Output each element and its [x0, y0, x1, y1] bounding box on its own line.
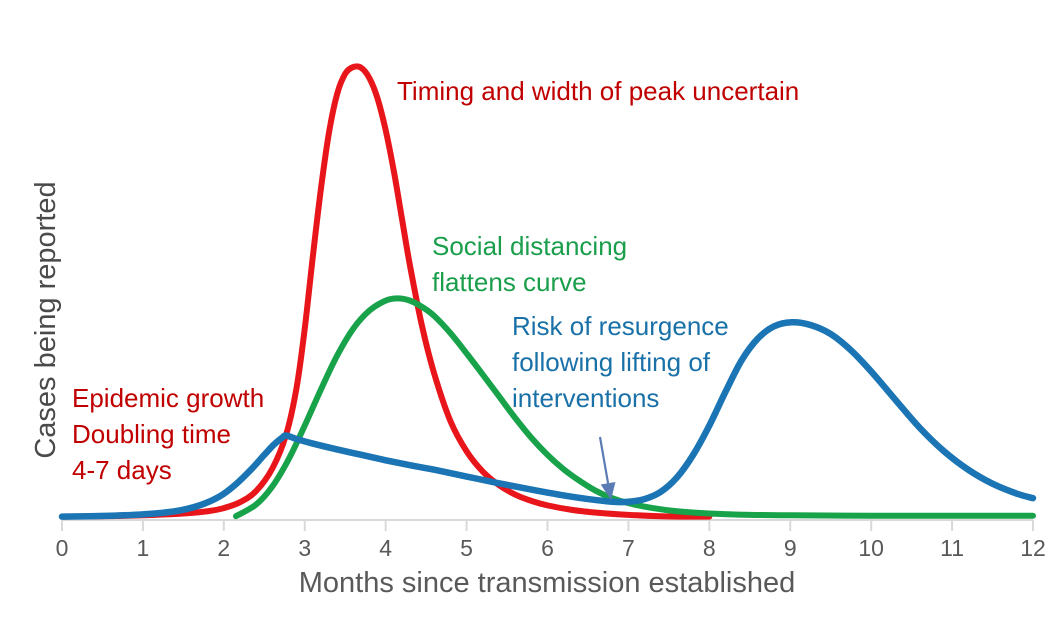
- x-axis-tick-label-5: 5: [460, 535, 473, 561]
- annotation-line: 4-7 days: [72, 455, 172, 485]
- annotation-line: interventions: [512, 383, 659, 413]
- x-axis-tick-label-10: 10: [858, 535, 884, 561]
- annotation-epidemic-growth: Epidemic growthDoubling time4-7 days: [72, 383, 264, 485]
- x-axis-tick-label-8: 8: [703, 535, 716, 561]
- x-axis-tick-label-12: 12: [1020, 535, 1046, 561]
- annotation-line: Doubling time: [72, 419, 231, 449]
- x-axis-tick-label-6: 6: [541, 535, 554, 561]
- x-axis-tick-label-2: 2: [217, 535, 230, 561]
- annotation-social-distancing: Social distancingflattens curve: [432, 231, 627, 297]
- annotation-line: Risk of resurgence: [512, 311, 729, 341]
- annotation-line: flattens curve: [432, 267, 587, 297]
- annotation-line: following lifting of: [512, 347, 711, 377]
- chart-annotations: Timing and width of peak uncertainSocial…: [72, 76, 799, 485]
- x-axis-tick-label-7: 7: [622, 535, 635, 561]
- axis-group: 0123456789101112: [56, 520, 1046, 561]
- x-axis-tick-label-9: 9: [784, 535, 797, 561]
- annotation-line: Timing and width of peak uncertain: [397, 76, 799, 106]
- chart-canvas: 0123456789101112 Months since transmissi…: [0, 0, 1055, 619]
- series-line-unmitigated: [62, 66, 709, 516]
- x-axis-tick-label-3: 3: [298, 535, 311, 561]
- arrow-shaft: [600, 437, 608, 483]
- x-axis-tick-label-1: 1: [137, 535, 150, 561]
- x-axis-title: Months since transmission established: [299, 567, 795, 599]
- epidemic-curves-chart: 0123456789101112 Months since transmissi…: [0, 0, 1055, 619]
- resurgence-pointer-arrow: [600, 437, 615, 500]
- x-axis-tick-label-4: 4: [379, 535, 392, 561]
- x-axis-tick-marks: [62, 520, 1033, 531]
- annotation-risk-of-resurgence: Risk of resurgencefollowing lifting ofin…: [512, 311, 729, 413]
- y-axis-title: Cases being reported: [30, 181, 62, 458]
- x-axis-tick-label-11: 11: [940, 535, 964, 561]
- annotation-line: Epidemic growth: [72, 383, 264, 413]
- annotation-peak-uncertain: Timing and width of peak uncertain: [397, 76, 799, 106]
- annotation-line: Social distancing: [432, 231, 627, 261]
- x-axis-tick-labels: 0123456789101112: [56, 535, 1046, 561]
- x-axis-tick-label-0: 0: [56, 535, 69, 561]
